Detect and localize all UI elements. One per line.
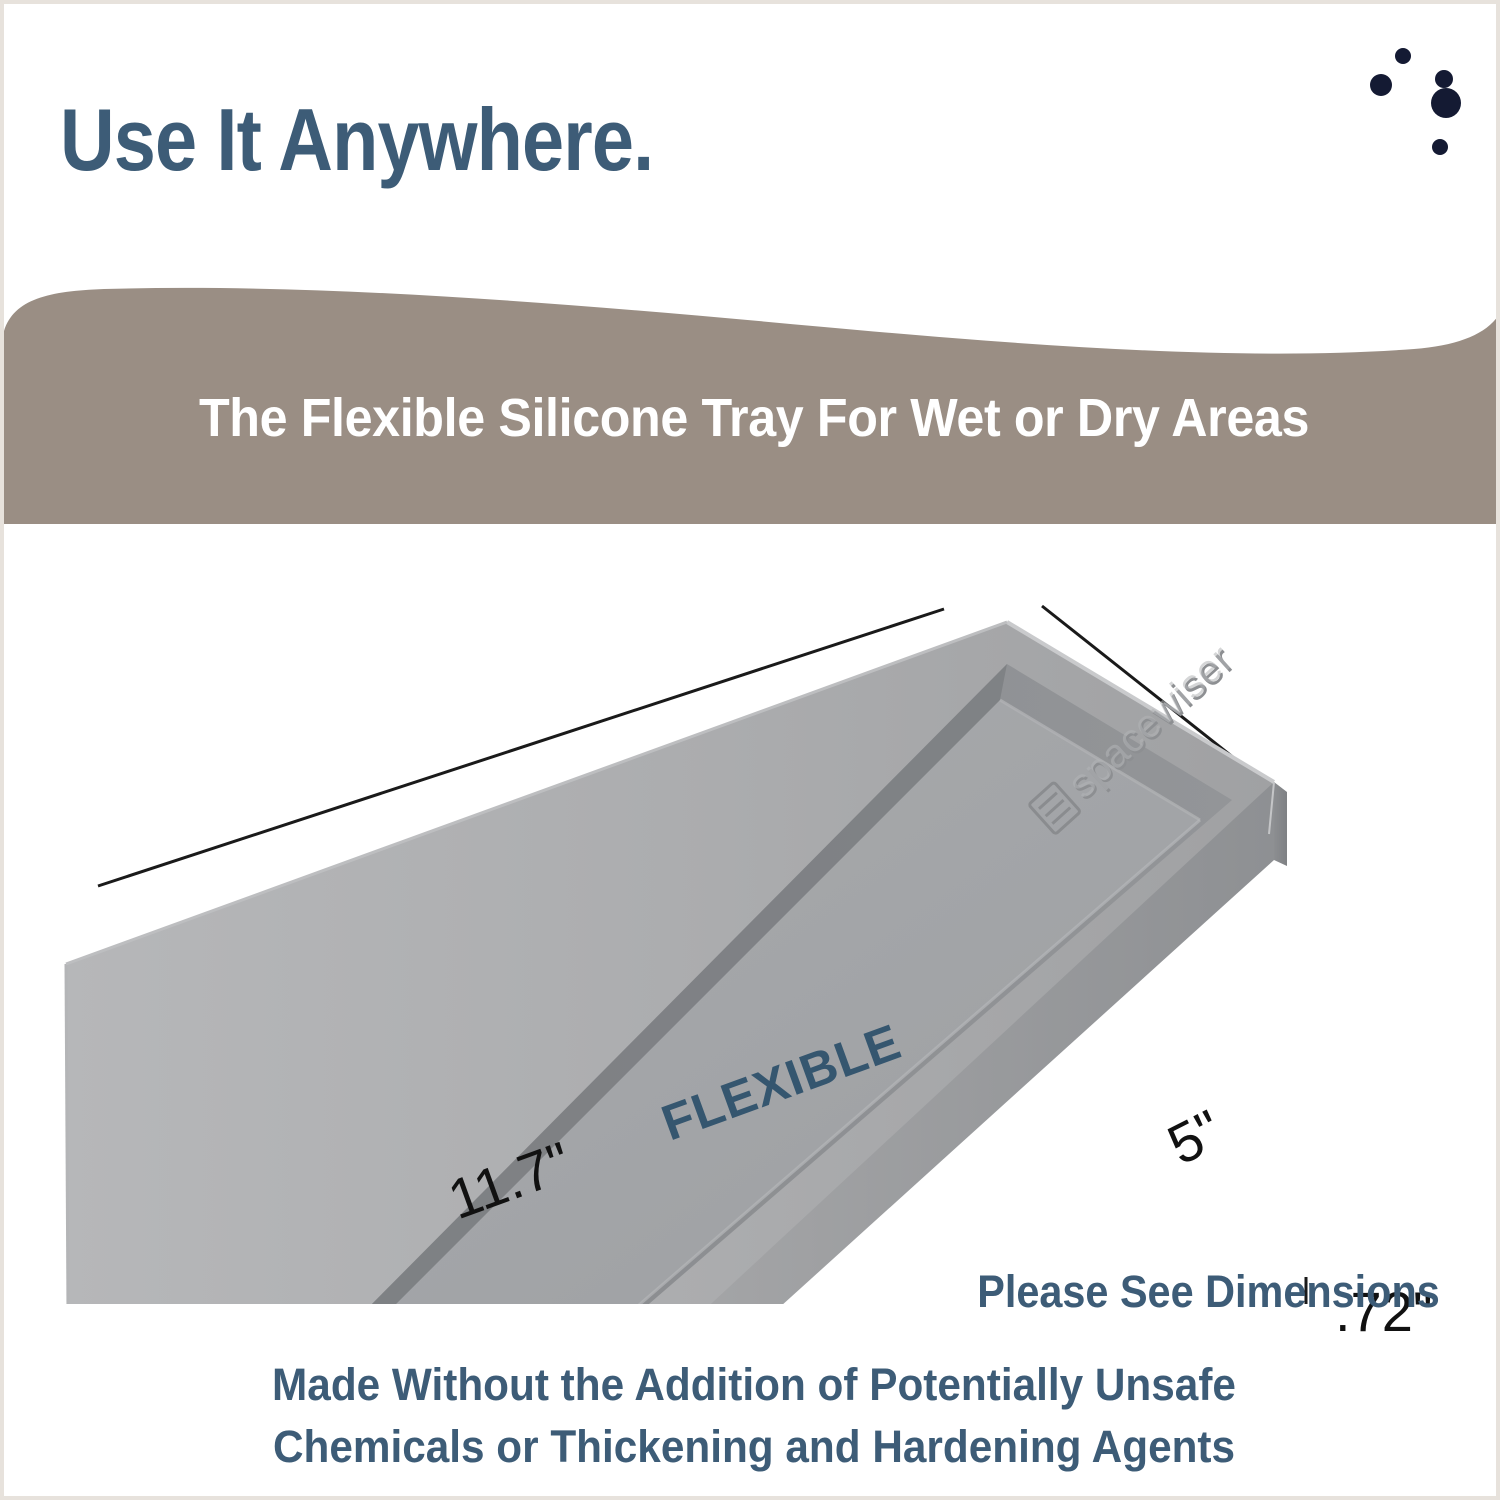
silicone-tray [66, 622, 1287, 1304]
decor-dot-icon [1395, 48, 1411, 64]
decor-dot-icon [1435, 70, 1453, 88]
disclaimer-block: Made Without the Addition of Potentially… [49, 1354, 1459, 1478]
decor-dot-icon [1370, 74, 1392, 96]
banner-subtitle: The Flexible Silicone Tray For Wet or Dr… [57, 387, 1452, 449]
product-infographic: Use It Anywhere. The Flexible Silicone T… [0, 0, 1500, 1500]
decor-dot-icon [1432, 139, 1448, 155]
page-title: Use It Anywhere. [60, 96, 653, 184]
product-image-area: spacewiser spacewiser 11.7" 5" .72" [4, 524, 1500, 1304]
tray-illustration: spacewiser spacewiser [4, 524, 1500, 1304]
see-dimensions-note: Please See Dimensions [977, 1266, 1440, 1318]
subtitle-banner: The Flexible Silicone Tray For Wet or Dr… [4, 269, 1500, 524]
decor-dot-icon [1431, 88, 1461, 118]
disclaimer-line-2: Chemicals or Thickening and Hardening Ag… [49, 1416, 1459, 1478]
disclaimer-line-1: Made Without the Addition of Potentially… [49, 1354, 1459, 1416]
